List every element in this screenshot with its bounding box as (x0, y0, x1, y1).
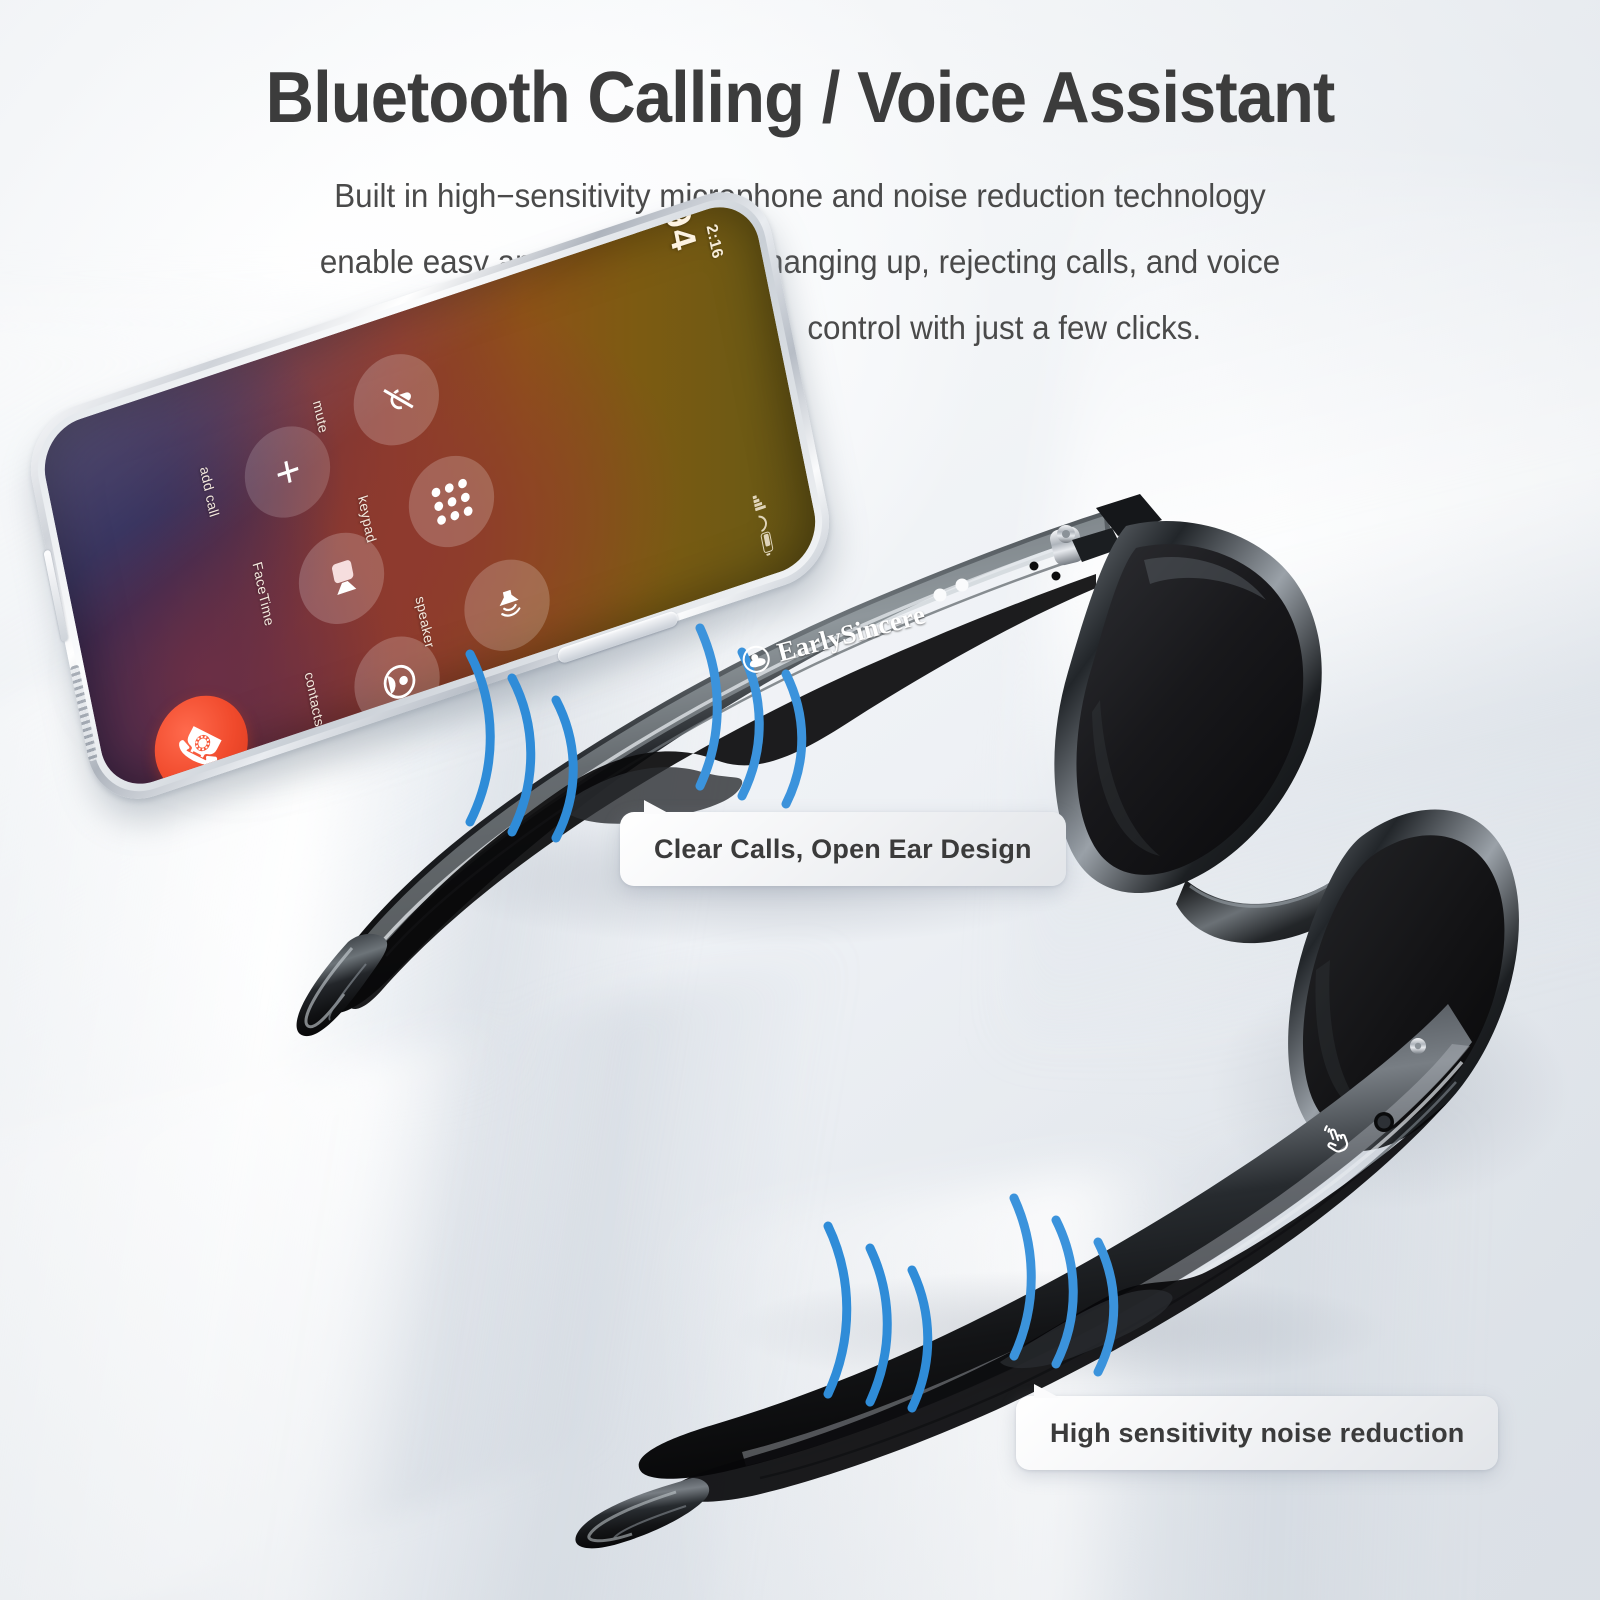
product-feature-banner: Bluetooth Calling / Voice Assistant Buil… (0, 0, 1600, 1600)
video-camera-icon (323, 557, 359, 600)
plus-icon: + (285, 459, 290, 484)
callout-clear-calls: Clear Calls, Open Ear Design (620, 812, 1066, 886)
callout-label: Clear Calls, Open Ear Design (654, 834, 1032, 865)
callout-label: High sensitivity noise reduction (1050, 1418, 1464, 1449)
subtitle-line-1: Built in high−sensitivity microphone and… (40, 179, 1560, 212)
callout-notch (1034, 1384, 1060, 1398)
microphone-slash-icon (374, 377, 418, 423)
page-title: Bluetooth Calling / Voice Assistant (56, 62, 1544, 134)
speaker-waves-icon (487, 583, 527, 628)
earlysincere-circle-logo-icon (740, 643, 773, 676)
callout-noise-reduction: High sensitivity noise reduction (1016, 1396, 1498, 1470)
wifi-icon (756, 513, 768, 529)
smartphone-mockup: 2:16 173 **** 8494 calling... + (0, 258, 860, 728)
callout-notch (644, 800, 670, 814)
cellular-signal-icon (752, 493, 765, 511)
keypad-grid-icon (430, 477, 473, 525)
